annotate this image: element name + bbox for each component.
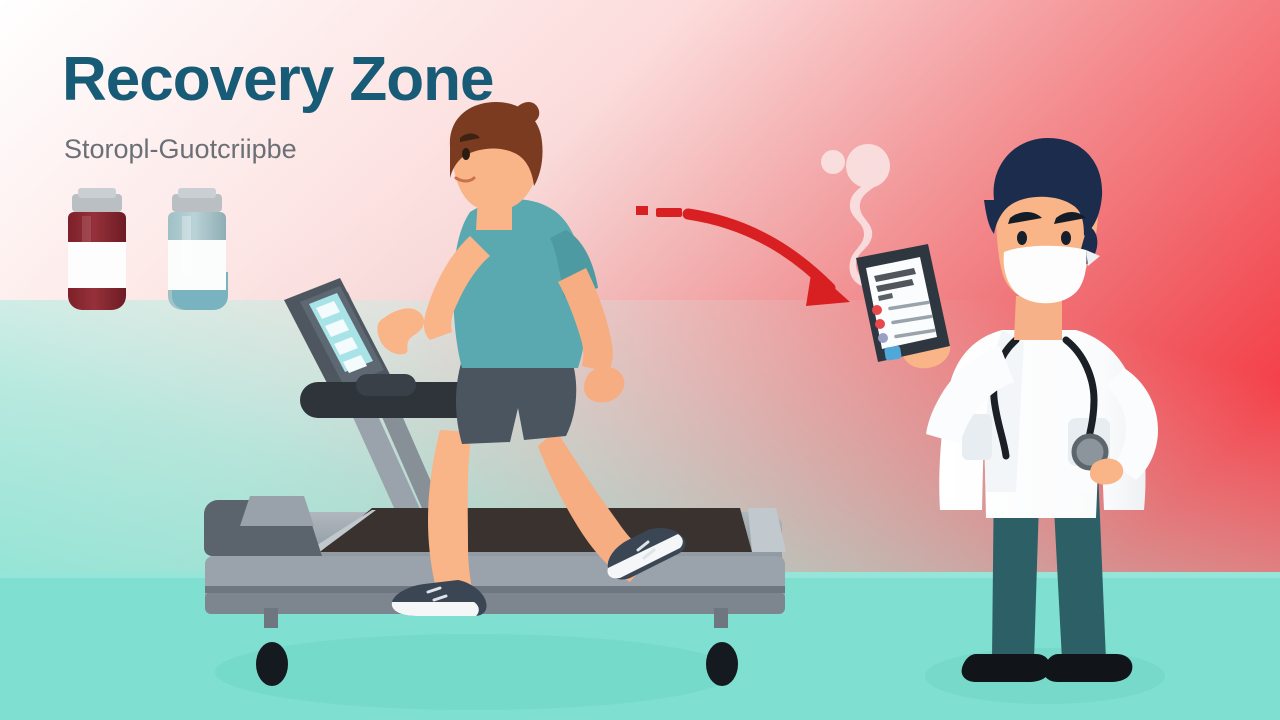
scene-svg: Recovery Zone Storopl-Guotcriipbe (0, 0, 1280, 720)
tablet-check-dot-1 (872, 305, 882, 315)
treadmill-base-shade (205, 592, 785, 614)
tablet-check-dot-3 (878, 333, 888, 343)
vial-blue (168, 188, 228, 310)
vial-red-highlight (82, 216, 91, 282)
doctor-eye-right (1061, 231, 1071, 245)
vial-blue-cap-top (178, 188, 216, 198)
doctor-eye-left (1017, 231, 1027, 245)
treadmill-handlebar-grip[interactable] (356, 374, 416, 396)
vial-red (68, 188, 126, 310)
tablet-action-button[interactable] (884, 345, 902, 360)
steam-blob-small (821, 150, 845, 174)
runner-shoe-front-sole (392, 602, 479, 616)
treadmill-wheel-stem-right (714, 608, 728, 628)
treadmill-wheel-left (256, 642, 288, 686)
runner-eye (462, 148, 470, 160)
arrow-dash-2 (656, 208, 682, 217)
treadmill-wheel-stem-left (264, 608, 278, 628)
illustration-canvas: Recovery Zone Storopl-Guotcriipbe (0, 0, 1280, 720)
treadmill-motor-top (240, 496, 314, 526)
vial-red-cap-top (78, 188, 116, 198)
vial-blue-highlight (182, 216, 191, 276)
vial-blue-label (168, 240, 226, 290)
steam-blob-large (846, 144, 890, 188)
arrow-dash-1 (636, 206, 648, 215)
vial-red-label (68, 242, 126, 288)
doctor-shoe-right (1044, 654, 1133, 682)
treadmill-base-line (205, 586, 785, 593)
treadmill-belt (320, 508, 752, 552)
page-title: Recovery Zone (62, 45, 494, 114)
page-subtitle: Storopl-Guotcriipbe (64, 134, 297, 164)
doctor-shoe-left (962, 654, 1051, 682)
tablet-check-dot-2 (875, 319, 885, 329)
treadmill-shadow (215, 634, 735, 710)
treadmill-wheel-right (706, 642, 738, 686)
